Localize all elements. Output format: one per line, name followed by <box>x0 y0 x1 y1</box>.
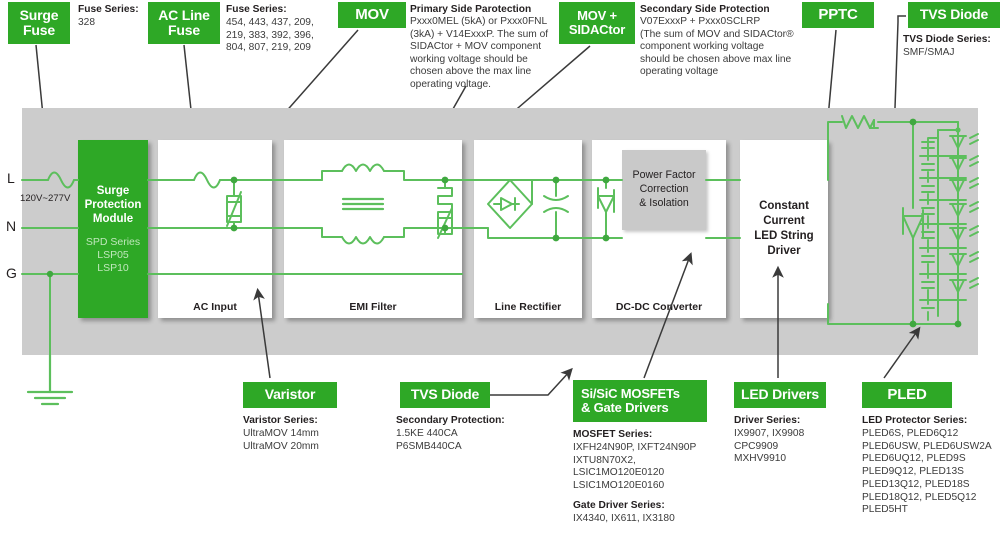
note-body: PLED6S, PLED6Q12 PLED6USW, PLED6USW2A PL… <box>862 428 1000 517</box>
diagram-canvas: Surge Fuse Fuse Series: 328 AC Line Fuse… <box>0 0 1000 538</box>
callout-led-drivers[interactable]: LED Drivers <box>734 382 826 408</box>
note-heading: Secondary Protection: <box>396 415 536 428</box>
note-varistor-series: Varistor Series: UltraMOV 14mm UltraMOV … <box>243 415 363 453</box>
note-heading: LED Protector Series: <box>862 415 1000 428</box>
note-heading: MOSFET Series: <box>573 429 723 442</box>
note-heading: Driver Series: <box>734 415 854 428</box>
note-mosfet-series: MOSFET Series: IXFH24N90P, IXFT24N90P IX… <box>573 429 723 493</box>
callout-pled[interactable]: PLED <box>862 382 952 408</box>
note-body: IXFH24N90P, IXFT24N90P IXTU8N70X2, LSIC1… <box>573 442 723 493</box>
note-pled-series: LED Protector Series: PLED6S, PLED6Q12 P… <box>862 415 1000 517</box>
note-body: 1.5KE 440CA P6SMB440CA <box>396 428 536 454</box>
note-body: IX9907, IX9908 CPC9909 MXHV9910 <box>734 428 854 466</box>
callout-mosfets-gate-drivers[interactable]: Si/SiC MOSFETs & Gate Drivers <box>573 380 707 422</box>
note-heading: Gate Driver Series: <box>573 500 733 513</box>
leader-varistor <box>258 292 270 378</box>
note-secondary-protection: Secondary Protection: 1.5KE 440CA P6SMB4… <box>396 415 536 453</box>
note-body: IX4340, IX611, IX3180 <box>573 513 733 526</box>
callout-tvs-diode-bottom[interactable]: TVS Diode <box>400 382 490 408</box>
note-gate-driver-series: Gate Driver Series: IX4340, IX611, IX318… <box>573 500 733 526</box>
leader-pled <box>884 330 918 378</box>
callout-varistor[interactable]: Varistor <box>243 382 337 408</box>
leader-mosfets <box>644 256 690 378</box>
note-heading: Varistor Series: <box>243 415 363 428</box>
note-body: UltraMOV 14mm UltraMOV 20mm <box>243 428 363 454</box>
note-led-driver-series: Driver Series: IX9907, IX9908 CPC9909 MX… <box>734 415 854 466</box>
leader-tvs-diode-bottom <box>487 371 570 395</box>
